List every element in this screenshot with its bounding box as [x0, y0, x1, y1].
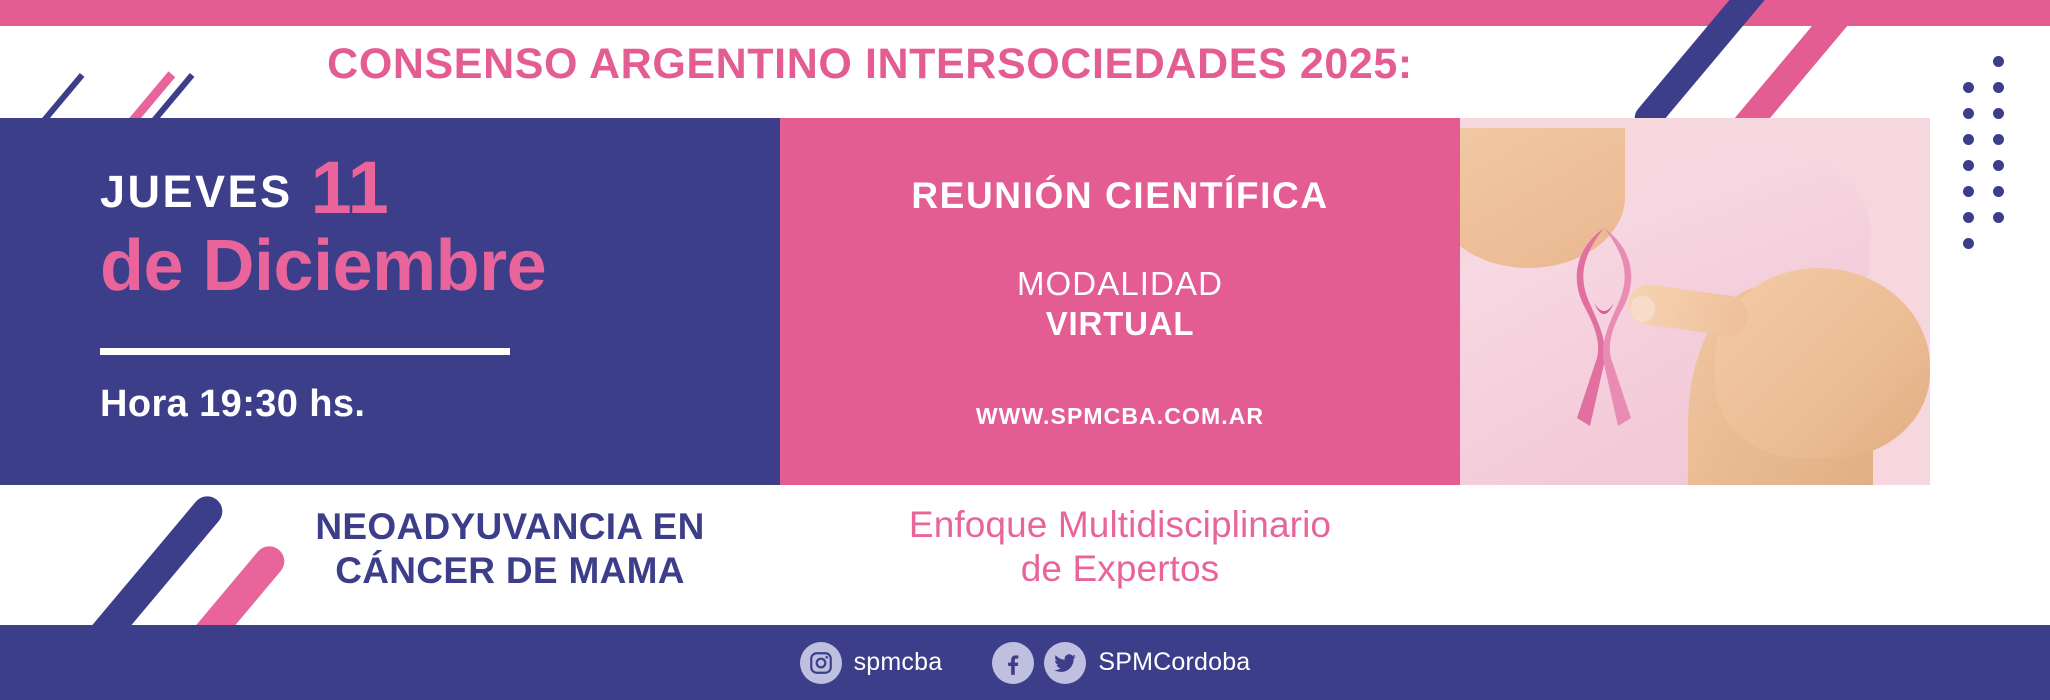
event-time: Hora 19:30 hs. [100, 383, 365, 426]
main-topic-line-1: NEOADYUVANCIA EN [120, 505, 900, 549]
subtitle-heading: Enfoque Multidisciplinario de Expertos [790, 503, 1450, 592]
main-topic-heading: NEOADYUVANCIA EN CÁNCER DE MAMA [120, 505, 900, 592]
facebook-icon[interactable] [992, 642, 1034, 684]
social-link-facebook-twitter[interactable]: SPMCordoba [992, 642, 1250, 684]
social-links-row: spmcba SPMCordoba [0, 625, 2050, 700]
main-topic-line-2: CÁNCER DE MAMA [120, 549, 900, 593]
decorative-dot-grid [1963, 56, 2011, 236]
date-divider [100, 348, 510, 355]
photo-hand [1715, 268, 1930, 458]
event-type-label: REUNIÓN CIENTÍFICA [780, 175, 1460, 217]
page-title: CONSENSO ARGENTINO INTERSOCIEDADES 2025: [0, 40, 1740, 89]
subtitle-line-1: Enfoque Multidisciplinario [790, 503, 1450, 547]
pink-ribbon-icon [1564, 218, 1644, 438]
website-link[interactable]: WWW.SPMCBA.COM.AR [780, 403, 1460, 430]
instagram-handle: spmcba [854, 648, 943, 677]
social-handle: SPMCordoba [1098, 648, 1250, 677]
date-weekday-row: JUEVES 11 [100, 152, 389, 218]
day-number: 11 [311, 158, 389, 217]
modality-label: MODALIDAD [780, 265, 1460, 303]
instagram-icon[interactable] [800, 642, 842, 684]
weekday-label: JUEVES [100, 166, 293, 218]
modality-value: VIRTUAL [780, 305, 1460, 343]
social-icon-group[interactable] [992, 642, 1086, 684]
social-link-instagram[interactable]: spmcba [800, 642, 943, 684]
twitter-icon[interactable] [1044, 642, 1086, 684]
event-banner: CONSENSO ARGENTINO INTERSOCIEDADES 2025:… [0, 0, 2050, 700]
subtitle-line-2: de Expertos [790, 547, 1450, 591]
month-label: de Diciembre [100, 225, 546, 307]
